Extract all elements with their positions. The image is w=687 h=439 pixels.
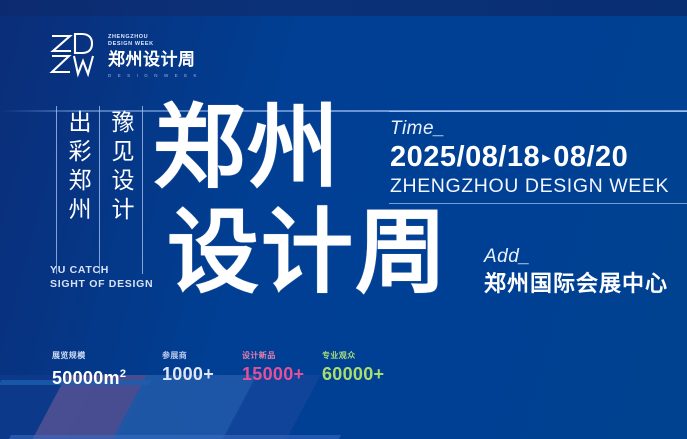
logo-chinese-name: 郑州设计周 [108,50,199,70]
stat-value: 50000m2 [52,363,162,390]
event-date-start: 2025/08/18 [390,141,540,173]
stat-item: 专业观众 60000+ [322,350,402,386]
divider-mid-right [389,203,687,204]
stat-label: 专业观众 [322,350,402,361]
brand-logo: ZHENGZHOU DESIGN WEEK 郑州设计周 D E S I G N … [48,30,199,78]
time-label: Time_ [390,118,669,140]
divider-top-right [389,111,687,112]
slogan-english-line2: SIGHT OF DESIGN [50,278,153,292]
stat-value: 60000+ [322,363,402,386]
stats-bar: 展览规模 50000m2 参展商 1000+ 设计新品 15000+ 专业观众 … [52,350,402,390]
top-band [0,0,687,16]
poster-canvas: ZHENGZHOU DESIGN WEEK 郑州设计周 D E S I G N … [0,0,687,439]
logo-text-block: ZHENGZHOU DESIGN WEEK 郑州设计周 D E S I G N … [108,30,199,78]
stat-value-superscript: 2 [120,368,126,380]
stat-item: 设计新品 15000+ [242,350,322,386]
event-english-name: ZHENGZHOU DESIGN WEEK [390,175,669,198]
vertical-slogan-column-2: 豫见设计 [100,106,142,226]
logo-english-line1: ZHENGZHOU [108,34,199,41]
stat-value: 1000+ [162,363,242,386]
stat-item: 展览规模 50000m2 [52,350,162,390]
date-arrow-icon: ▸ [540,148,553,167]
time-info-block: Time_ 2025/08/18▸08/20 ZHENGZHOU DESIGN … [390,118,669,198]
stat-label: 设计新品 [242,350,322,361]
zdzw-monogram-icon [48,30,100,78]
logo-english-line2: DESIGN WEEK [108,41,199,48]
event-date-end: 08/20 [553,141,628,173]
stat-value: 15000+ [242,363,322,386]
address-label: Add_ [484,246,668,268]
stat-label: 展览规模 [52,350,162,361]
vertical-slogan-column-1: 出彩郑州 [57,106,99,226]
address-value: 郑州国际会展中心 [484,270,668,298]
decor-thin-strip [9,435,341,439]
vertical-rule-right [142,106,143,274]
address-info-block: Add_ 郑州国际会展中心 [484,246,668,298]
stat-label: 参展商 [162,350,242,361]
stat-value-text: 50000m [52,368,120,388]
logo-sub-tagline: D E S I G N W E E K [108,73,199,78]
event-date: 2025/08/18▸08/20 [390,140,669,175]
vertical-slogan: 出彩郑州 豫见设计 [56,106,143,274]
slogan-english: YU CATCH SIGHT OF DESIGN [50,264,153,291]
slogan-english-line1: YU CATCH [50,264,153,278]
headline-line-2: 设计周 [167,201,449,306]
stat-item: 参展商 1000+ [162,350,242,386]
